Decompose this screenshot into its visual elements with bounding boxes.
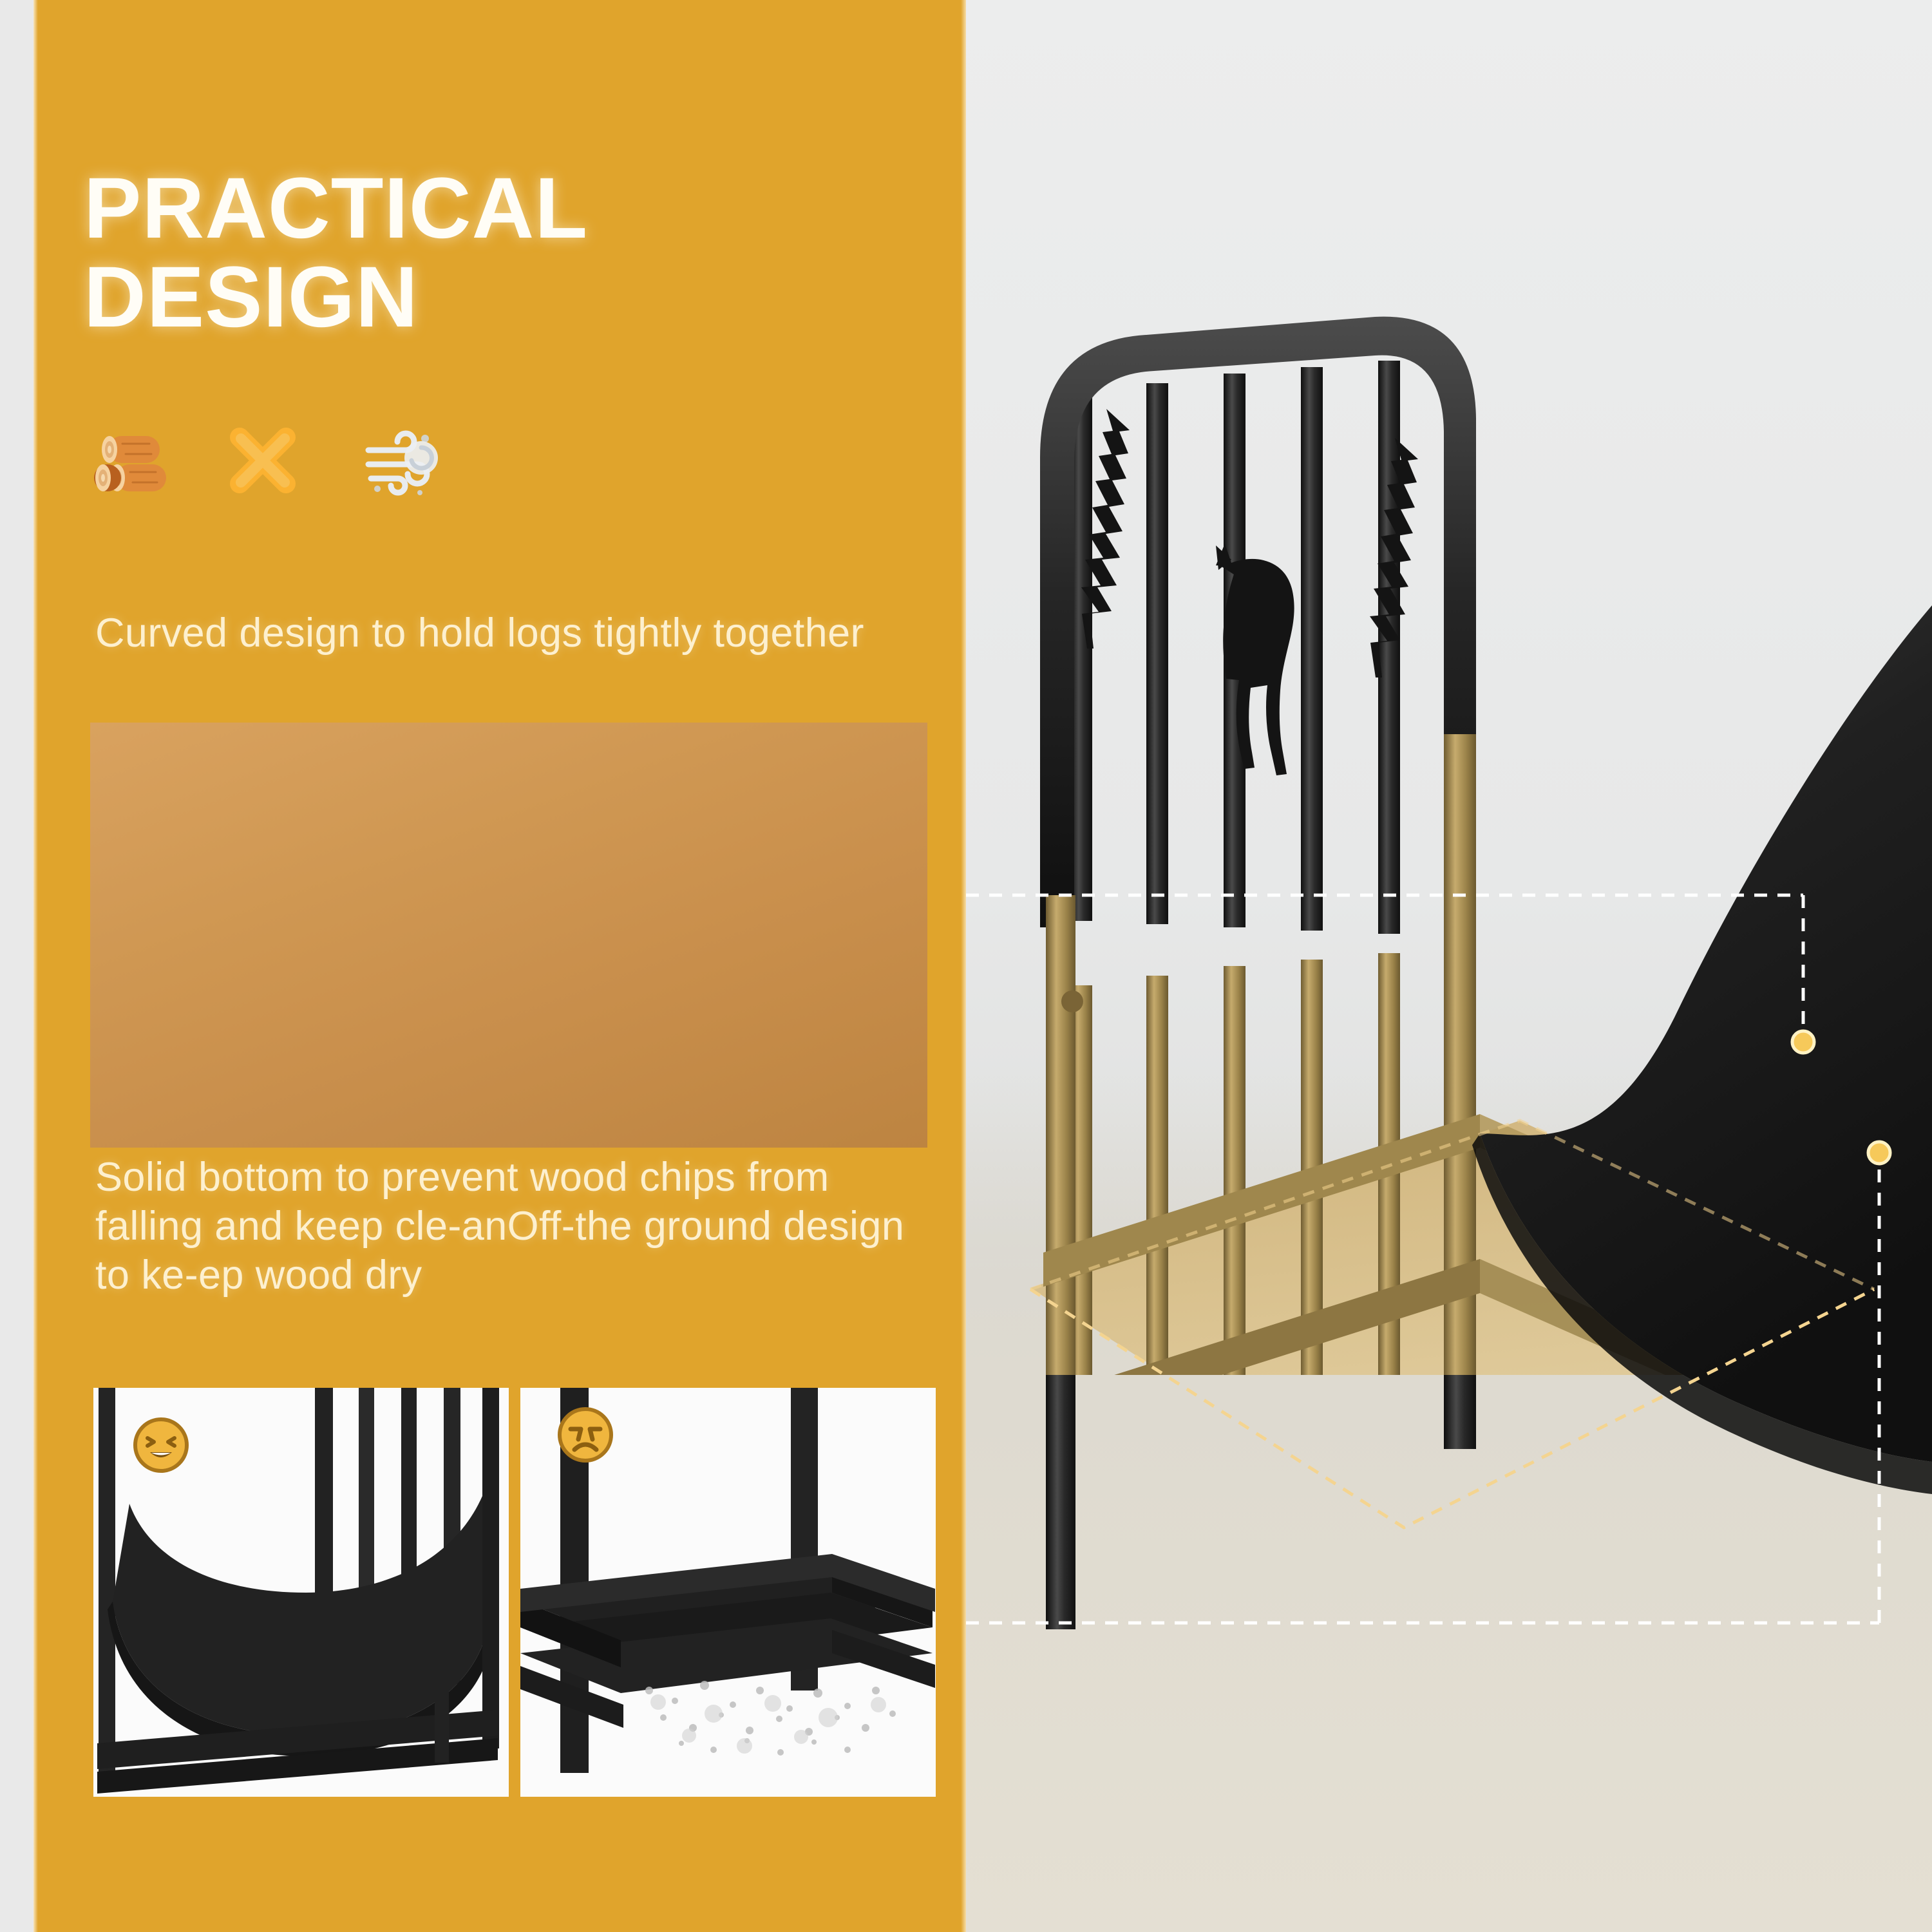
- wood-floor-background: [90, 723, 927, 1148]
- product-svg: [953, 245, 1932, 1726]
- grinning-face-emoji: [133, 1417, 189, 1473]
- page-title: PRACTICAL DESIGN: [84, 164, 895, 342]
- wood-logs-icon: [90, 422, 174, 506]
- headline-line-2: DESIGN: [84, 253, 895, 342]
- poster-stage: PRACTICAL DESIGN: [0, 0, 1932, 1932]
- feature-text-curved-design: Curved design to hold logs tightly toget…: [95, 609, 868, 658]
- frowning-face-emoji: [558, 1407, 613, 1463]
- panel-left-edge-highlight: [33, 0, 38, 1932]
- cross-x-icon: [224, 422, 308, 506]
- headline-line-1: PRACTICAL: [84, 160, 588, 256]
- panel-right-edge-highlight: [961, 0, 966, 1932]
- firewood-log-rack-product-image: [953, 245, 1932, 1726]
- feature-icon-row: [90, 422, 442, 506]
- slatted-bottom-debris-photo: [520, 1388, 936, 1797]
- firewood-in-curved-rack-photo: [90, 723, 927, 1148]
- wind-blowing-icon: [358, 422, 442, 506]
- solid-curved-bottom-photo: [93, 1388, 509, 1797]
- feature-text-solid-bottom: Solid bottom to prevent wood chips from …: [95, 1153, 926, 1300]
